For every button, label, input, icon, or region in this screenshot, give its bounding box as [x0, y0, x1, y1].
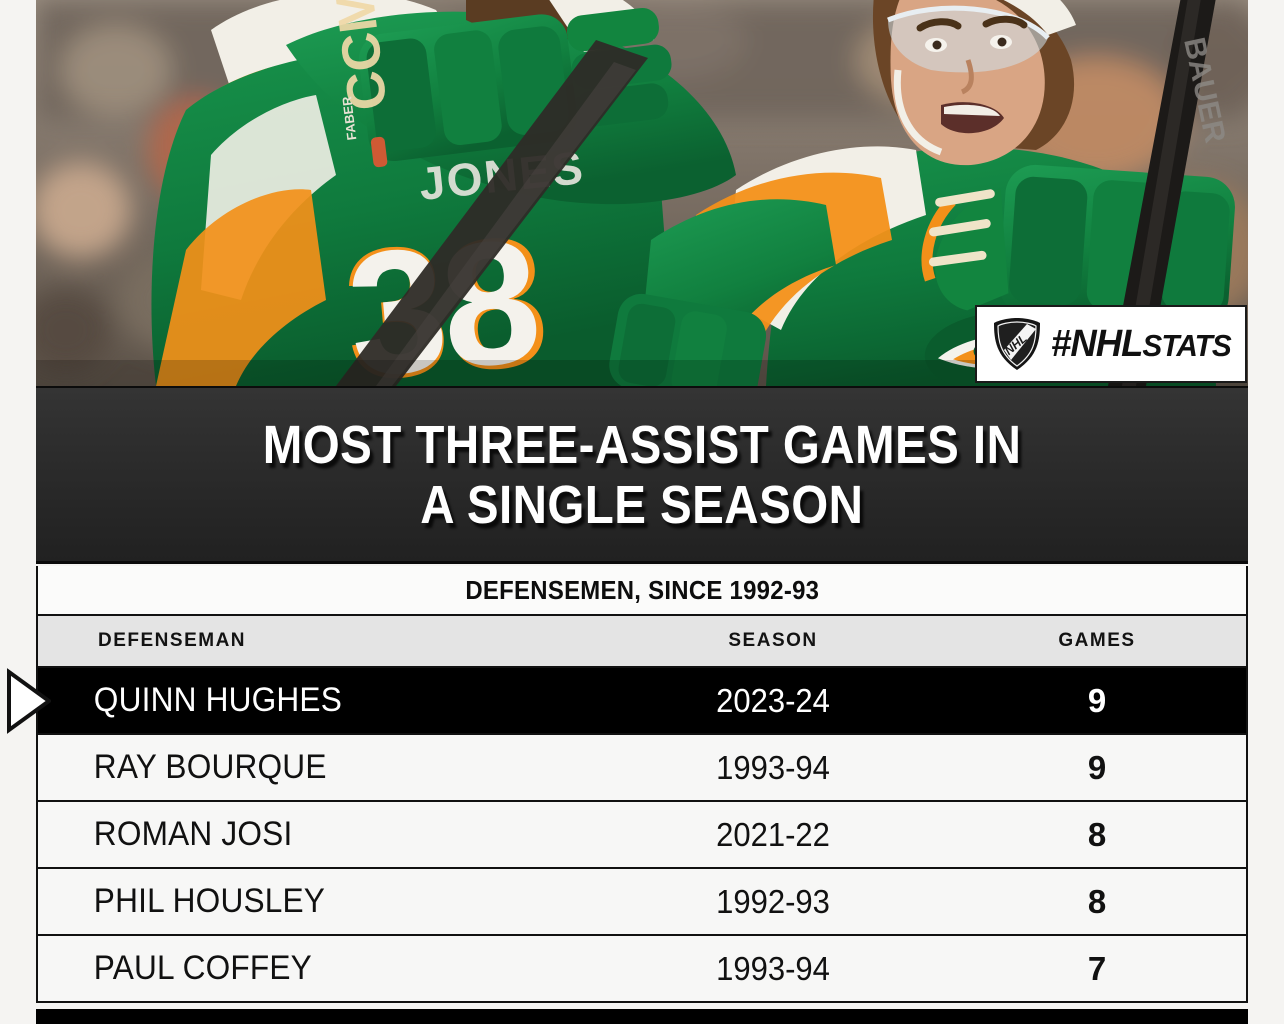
table-row[interactable]: ROMAN JOSI 2021-22 8 — [38, 802, 1246, 869]
cell-season: 1993-94 — [609, 749, 938, 787]
cell-season: 1992-93 — [609, 883, 938, 921]
nhl-stats-badge: NHL #NHLSTATS — [975, 305, 1247, 383]
badge-hashtag: #NHL — [1051, 323, 1142, 365]
cell-games: 9 — [948, 749, 1246, 787]
cell-games: 8 — [948, 816, 1246, 854]
cell-season: 1993-94 — [609, 950, 938, 988]
table-header-row: DEFENSEMAN SEASON GAMES — [38, 616, 1246, 668]
column-header-defenseman: DEFENSEMAN — [38, 630, 598, 652]
cell-defenseman: RAY BOURQUE — [38, 748, 559, 787]
nhl-shield-icon: NHL — [991, 316, 1043, 372]
bottom-black-bar — [36, 1009, 1248, 1024]
highlight-pointer-icon — [5, 668, 51, 734]
table-row[interactable]: PHIL HOUSLEY 1992-93 8 — [38, 869, 1246, 936]
cell-season: 2021-22 — [609, 816, 938, 854]
subtitle-bar: DEFENSEMEN, SINCE 1992-93 — [36, 566, 1248, 616]
cell-games: 9 — [948, 682, 1246, 720]
stats-table: DEFENSEMAN SEASON GAMES QUINN HUGHES 202… — [36, 616, 1248, 1003]
badge-stats-word: STATS — [1142, 328, 1230, 363]
cell-games: 8 — [948, 883, 1246, 921]
title-band: MOST THREE-ASSIST GAMES IN A SINGLE SEAS… — [36, 386, 1248, 564]
column-header-games: GAMES — [948, 630, 1246, 652]
nhl-stats-wordmark: #NHLSTATS — [1051, 323, 1231, 366]
cell-defenseman: QUINN HUGHES — [38, 681, 559, 720]
cell-defenseman: ROMAN JOSI — [38, 815, 559, 854]
cell-games: 7 — [948, 950, 1246, 988]
cell-defenseman: PHIL HOUSLEY — [38, 882, 559, 921]
cell-defenseman: PAUL COFFEY — [38, 949, 559, 988]
title-line-2: A SINGLE SEASON — [420, 475, 863, 535]
nhl-stats-graphic: JONES 38 38 — [0, 0, 1284, 1024]
column-header-season: SEASON — [598, 630, 948, 652]
cell-season: 2023-24 — [609, 682, 938, 720]
table-row[interactable]: PAUL COFFEY 1993-94 7 — [38, 936, 1246, 1003]
title-line-1: MOST THREE-ASSIST GAMES IN — [263, 415, 1022, 475]
table-row[interactable]: QUINN HUGHES 2023-24 9 — [38, 668, 1246, 735]
subtitle-text: DEFENSEMEN, SINCE 1992-93 — [465, 575, 819, 606]
table-row[interactable]: RAY BOURQUE 1993-94 9 — [38, 735, 1246, 802]
